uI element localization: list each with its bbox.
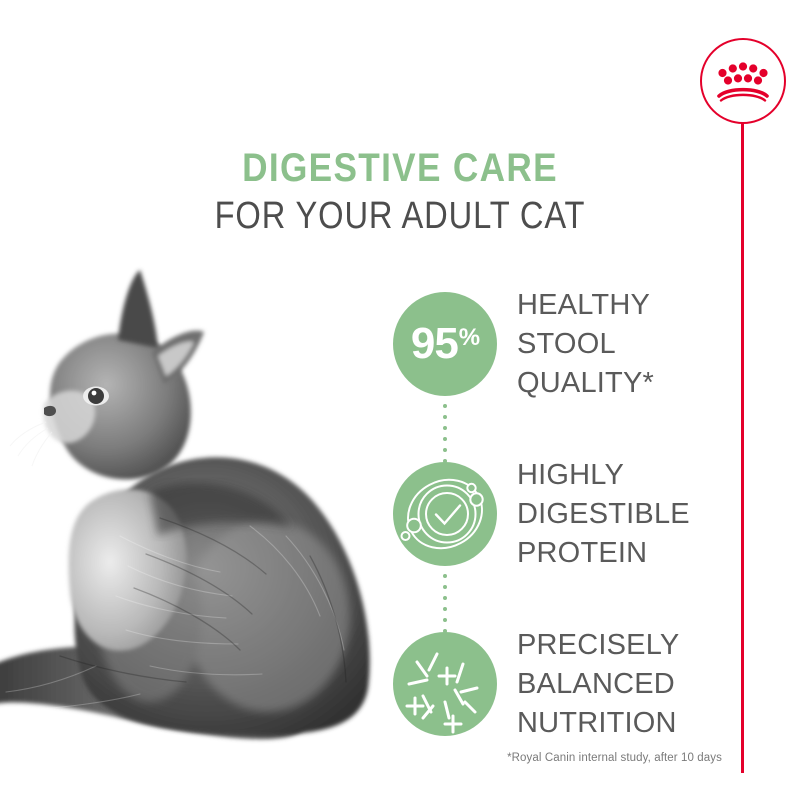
footnote-text: *Royal Canin internal study, after 10 da… bbox=[507, 752, 722, 764]
icon-badge-balanced-nutrition bbox=[393, 632, 497, 736]
product-feature-poster: DIGESTIVE CARE FOR YOUR ADULT CAT bbox=[0, 0, 800, 800]
logo-stem-line bbox=[741, 123, 744, 773]
headline-primary: DIGESTIVE CARE bbox=[48, 146, 752, 190]
percent-symbol: % bbox=[459, 324, 479, 352]
feature-label: PRECISELY BALANCED NUTRITION bbox=[517, 626, 727, 743]
royal-canin-crown-icon bbox=[716, 60, 770, 102]
page-title: DIGESTIVE CARE FOR YOUR ADULT CAT bbox=[0, 146, 800, 238]
feature-item-precisely-balanced-nutrition: PRECISELY BALANCED NUTRITION bbox=[393, 632, 723, 736]
feature-item-highly-digestible-protein: HIGHLY DIGESTIBLE PROTEIN bbox=[393, 462, 723, 566]
dotted-connector bbox=[443, 404, 447, 454]
percentage-badge: 95% bbox=[411, 322, 479, 366]
icon-badge-digestible-protein bbox=[393, 462, 497, 566]
feature-label: HIGHLY DIGESTIBLE PROTEIN bbox=[517, 456, 727, 573]
feature-list: 95% HEALTHY STOOL QUALITY* bbox=[393, 292, 723, 736]
stat-badge-95-percent: 95% bbox=[393, 292, 497, 396]
dotted-connector bbox=[443, 574, 447, 624]
royal-canin-logo bbox=[700, 38, 786, 124]
feature-label: HEALTHY STOOL QUALITY* bbox=[517, 286, 727, 403]
scattered-nutrients-icon bbox=[393, 632, 497, 736]
headline-secondary: FOR YOUR ADULT CAT bbox=[56, 194, 744, 238]
feature-item-healthy-stool-quality: 95% HEALTHY STOOL QUALITY* bbox=[393, 292, 723, 396]
badge-value: 95 bbox=[411, 322, 458, 366]
check-in-orbit-icon bbox=[393, 462, 497, 566]
hero-cat-photo bbox=[0, 236, 390, 796]
